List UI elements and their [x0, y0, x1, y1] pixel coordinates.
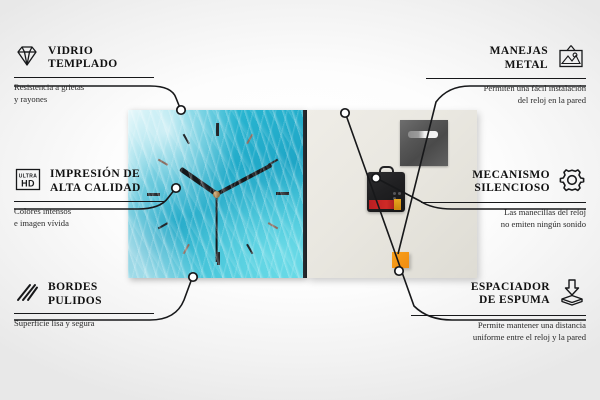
- wall-frame-icon: [556, 44, 586, 74]
- callout-title: VIDRIO TEMPLADO: [48, 45, 118, 72]
- clock-hour-hand: [179, 167, 218, 196]
- callout-rule: [426, 78, 586, 80]
- gear-icon: [558, 167, 586, 198]
- callout-title: MANEJAS METAL: [490, 45, 548, 72]
- hanger-plate: [400, 120, 448, 166]
- foam-spacer-pad: [392, 252, 409, 268]
- callout-mecanismo-silencioso: MECANISMO SILENCIOSO Las manecillas del …: [421, 167, 586, 230]
- svg-text:HD: HD: [21, 179, 35, 189]
- clock-second-hand: [216, 194, 218, 262]
- callout-rule: [411, 315, 586, 317]
- callout-rule: [14, 77, 154, 79]
- callout-bordes-pulidos: BORDES PULIDOS Superficie lisa y segura: [14, 281, 154, 330]
- foam-spacer-icon: [558, 278, 586, 311]
- ultra-hd-icon: ultra HD: [14, 167, 42, 197]
- callout-espaciador-espuma: ESPACIADOR DE ESPUMA Permite mantener un…: [411, 278, 586, 343]
- callout-description: Permiten una fácil instalación del reloj…: [426, 83, 586, 106]
- infographic-stage: VIDRIO TEMPLADO Resistencia a grietas y …: [0, 0, 600, 400]
- diamond-icon: [14, 44, 40, 73]
- callout-rule: [421, 202, 586, 204]
- callout-title: MECANISMO SILENCIOSO: [472, 169, 550, 196]
- callout-rule: [14, 313, 154, 315]
- polished-edges-icon: [14, 281, 40, 309]
- callout-title: ESPACIADOR DE ESPUMA: [471, 281, 550, 308]
- callout-vidrio-templado: VIDRIO TEMPLADO Resistencia a grietas y …: [14, 44, 154, 105]
- callout-title: IMPRESIÓN DE ALTA CALIDAD: [50, 168, 141, 195]
- clock-minute-hand: [216, 163, 273, 196]
- callout-manejas-metal: MANEJAS METAL Permiten una fácil instala…: [426, 44, 586, 106]
- callout-rule: [14, 201, 164, 203]
- callout-description: Superficie lisa y segura: [14, 318, 154, 329]
- callout-description: Las manecillas del reloj no emiten ningú…: [421, 207, 586, 230]
- hanger-slot: [408, 131, 438, 138]
- callout-description: Colores intensos e imagen vívida: [14, 206, 164, 229]
- callout-description: Resistencia a grietas y rayones: [14, 82, 154, 105]
- callout-title: BORDES PULIDOS: [48, 281, 102, 308]
- mechanism-battery-tip: [394, 199, 401, 210]
- callout-impresion-alta-calidad: ultra HD IMPRESIÓN DE ALTA CALIDAD Color…: [14, 167, 164, 229]
- clock-center-cap: [213, 191, 220, 198]
- callout-description: Permite mantener una distancia uniforme …: [411, 320, 586, 343]
